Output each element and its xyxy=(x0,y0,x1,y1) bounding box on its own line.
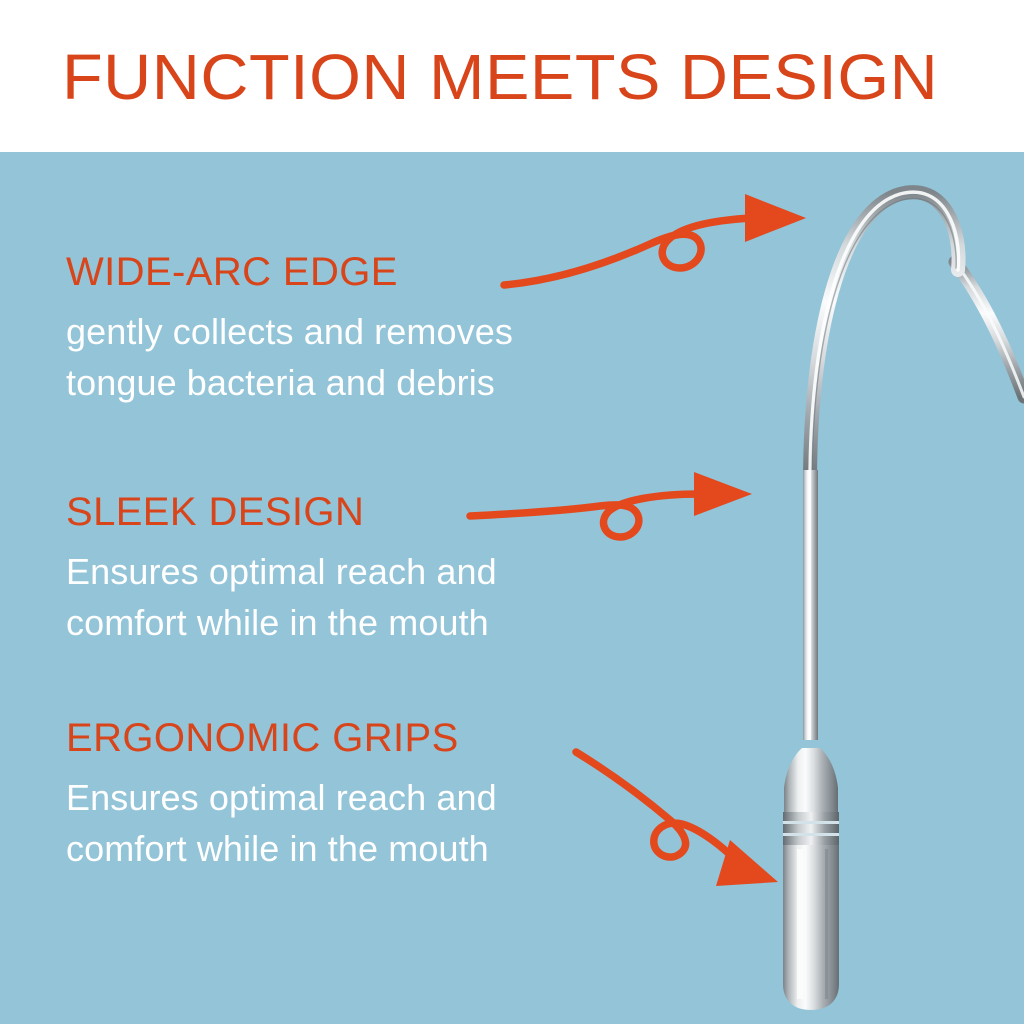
grip-rings xyxy=(783,812,839,845)
header-band: FUNCTION MEETS DESIGN xyxy=(0,0,1024,152)
page-title: FUNCTION MEETS DESIGN xyxy=(62,44,938,110)
feature-heading: WIDE-ARC EDGE xyxy=(66,250,513,294)
infographic-page: FUNCTION MEETS DESIGN xyxy=(0,0,1024,1024)
feature-body: Ensures optimal reach and comfort while … xyxy=(66,772,497,874)
feature-heading: ERGONOMIC GRIPS xyxy=(66,716,497,760)
scraper-shaft xyxy=(803,470,818,740)
scraper-right-arm xyxy=(955,262,1024,397)
feature-block-wide-arc-edge: WIDE-ARC EDGE gently collects and remove… xyxy=(66,250,513,408)
feature-block-ergonomic-grips: ERGONOMIC GRIPS Ensures optimal reach an… xyxy=(66,716,497,874)
feature-heading: SLEEK DESIGN xyxy=(66,490,497,534)
content-panel: WIDE-ARC EDGE gently collects and remove… xyxy=(0,152,1024,1024)
scraper-handle xyxy=(783,748,839,1010)
feature-block-sleek-design: SLEEK DESIGN Ensures optimal reach and c… xyxy=(66,490,497,648)
feature-body: Ensures optimal reach and comfort while … xyxy=(66,546,497,648)
feature-body: gently collects and removes tongue bacte… xyxy=(66,306,513,408)
